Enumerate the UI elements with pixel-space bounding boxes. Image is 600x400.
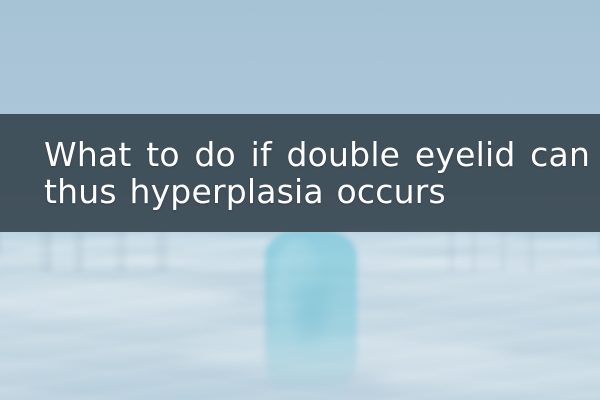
snow-drift xyxy=(330,264,600,296)
foreground-figure xyxy=(265,230,357,400)
caption-banner: What to do if double eyelid can thus hyp… xyxy=(0,114,600,232)
cloud-streak xyxy=(12,240,240,256)
distant-stems xyxy=(36,228,192,272)
snow-drift xyxy=(372,360,600,392)
figure-shadow xyxy=(285,282,337,351)
caption-line-1: What to do if double eyelid can xyxy=(44,136,572,173)
distant-stems xyxy=(444,228,552,272)
caption-line-2: thus hyperplasia occurs xyxy=(44,173,572,210)
snow-drift xyxy=(0,280,240,316)
title-card-image: What to do if double eyelid can thus hyp… xyxy=(0,0,600,400)
